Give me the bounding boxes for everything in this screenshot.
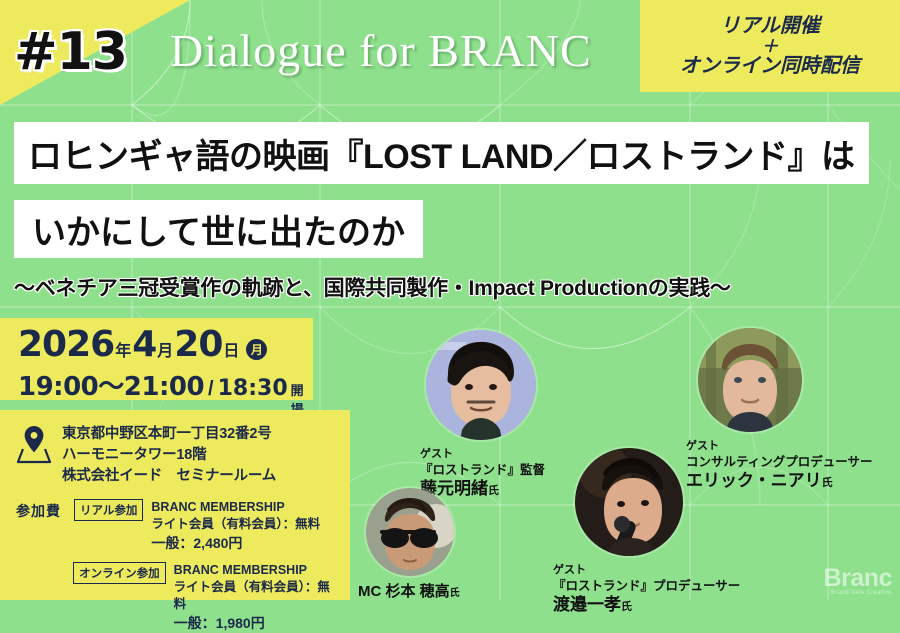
fee-row-online: オンライン参加 BRANC MEMBERSHIP ライト会員（有料会員）：無料 … [16, 562, 340, 633]
speaker-role-producer: ゲスト [553, 563, 740, 578]
speaker-card-mc: MC 杉本 穂高氏 [358, 488, 460, 602]
speaker-avatar-consulting-producer [698, 328, 802, 432]
series-title: Dialogue for BRANC [170, 24, 592, 77]
time-tilde: 〜 [98, 366, 124, 403]
subtitle: 〜ベネチア三冠受賞作の軌跡と、国際共同製作・Impact Productionの… [14, 272, 886, 302]
fee-detail-online: BRANC MEMBERSHIP ライト会員（有料会員）：無料 一般：1,980… [174, 562, 340, 633]
venue-line-1: 東京都中野区本町一丁目32番2号 [62, 424, 276, 445]
date-panel: 2026 年 4 月 20 日 月 19:00 〜 21:00 / 18:30 … [0, 318, 313, 400]
open-time: 18:30 [218, 376, 288, 401]
speaker-avatar-producer [575, 448, 683, 556]
title-line-2: いかにして世に出たのか [14, 200, 423, 258]
speaker-suffix-consulting-producer: 氏 [822, 477, 833, 489]
speaker-avatar-director [426, 330, 536, 440]
portrait-director-icon [426, 330, 536, 440]
date-month-unit: 月 [157, 337, 173, 361]
fee-online-line-3: 一般：1,980円 [174, 614, 340, 633]
fee-section: 参加費 リアル参加 BRANC MEMBERSHIP ライト会員（有料会員）：無… [16, 499, 340, 633]
speaker-name-text-producer: 渡邉一孝 [553, 595, 621, 614]
time-separator: / [208, 378, 214, 401]
map-pin-icon [16, 424, 52, 464]
time-end: 21:00 [124, 372, 204, 402]
date-year-unit: 年 [115, 337, 131, 361]
speaker-suffix-producer: 氏 [621, 601, 632, 613]
brand-name: Branc [824, 564, 892, 593]
speaker-name-producer: 渡邉一孝氏 [553, 594, 740, 616]
venue-line-2: ハーモニータワー18階 [62, 445, 276, 466]
speaker-role-director: ゲスト [420, 447, 545, 462]
fee-tag-real: リアル参加 [74, 499, 143, 521]
speaker-avatar-mc [366, 488, 454, 576]
speaker-card-producer: ゲスト 『ロストランド』プロデューサー 渡邉一孝氏 [553, 448, 740, 616]
date-day-unit: 日 [223, 337, 239, 361]
venue-line-3: 株式会社イード セミナールーム [62, 466, 276, 487]
speaker-suffix-director: 氏 [488, 485, 499, 497]
weekday-badge: 月 [246, 339, 267, 360]
fee-label: 参加費 [16, 499, 74, 521]
portrait-consulting-producer-icon [698, 328, 802, 432]
fee-tag-online: オンライン参加 [73, 562, 166, 584]
portrait-mc-icon [366, 488, 454, 576]
issue-number: #13 [14, 22, 127, 82]
poster-header: #13 Dialogue for BRANC リアル開催 ＋ オンライン同時配信 [0, 0, 900, 108]
brand-logo: Branc Brand New Creative [824, 564, 892, 596]
format-badge-plus: ＋ [762, 38, 779, 55]
speaker-caption-mc: MC 杉本 穂高氏 [358, 582, 460, 602]
fee-online-line-1: BRANC MEMBERSHIP [174, 562, 340, 579]
venue-row: 東京都中野区本町一丁目32番2号 ハーモニータワー18階 株式会社イード セミナ… [16, 424, 340, 487]
speaker-card-director: ゲスト 『ロストランド』監督 藤元明緒氏 [416, 330, 545, 500]
brand-tagline: Brand New Creative [824, 590, 892, 596]
format-badge-line1: リアル開催 [720, 15, 820, 37]
time-start: 19:00 [18, 372, 98, 402]
format-badge-line2: オンライン同時配信 [680, 55, 860, 77]
fee-real-line-1: BRANC MEMBERSHIP [151, 499, 320, 516]
mc-suffix: 氏 [450, 588, 460, 599]
fee-detail-real: BRANC MEMBERSHIP ライト会員（有料会員）：無料 一般：2,480… [151, 499, 320, 553]
date-line: 2026 年 4 月 20 日 月 [18, 324, 313, 365]
mc-name: 杉本 穂高 [386, 583, 450, 600]
mc-prefix: MC [358, 583, 381, 600]
info-panel: 東京都中野区本町一丁目32番2号 ハーモニータワー18階 株式会社イード セミナ… [0, 410, 350, 600]
fee-real-line-3: 一般：2,480円 [151, 534, 320, 553]
fee-row-real: 参加費 リアル参加 BRANC MEMBERSHIP ライト会員（有料会員）：無… [16, 499, 340, 553]
venue-text: 東京都中野区本町一丁目32番2号 ハーモニータワー18階 株式会社イード セミナ… [62, 424, 276, 487]
speaker-title-director: 『ロストランド』監督 [420, 462, 545, 479]
title-line-1: ロヒンギャ語の映画『LOST LAND／ロストランド』は [14, 122, 869, 184]
date-year: 2026 [18, 324, 114, 365]
date-day: 20 [174, 324, 222, 365]
fee-real-line-2: ライト会員（有料会員）：無料 [151, 516, 320, 533]
speaker-caption-producer: ゲスト 『ロストランド』プロデューサー 渡邉一孝氏 [553, 563, 740, 616]
portrait-producer-icon [575, 448, 683, 556]
format-badge: リアル開催 ＋ オンライン同時配信 [640, 0, 900, 92]
speaker-title-producer: 『ロストランド』プロデューサー [553, 578, 740, 595]
fee-online-line-2: ライト会員（有料会員）：無料 [174, 579, 340, 614]
date-month: 4 [132, 324, 156, 365]
